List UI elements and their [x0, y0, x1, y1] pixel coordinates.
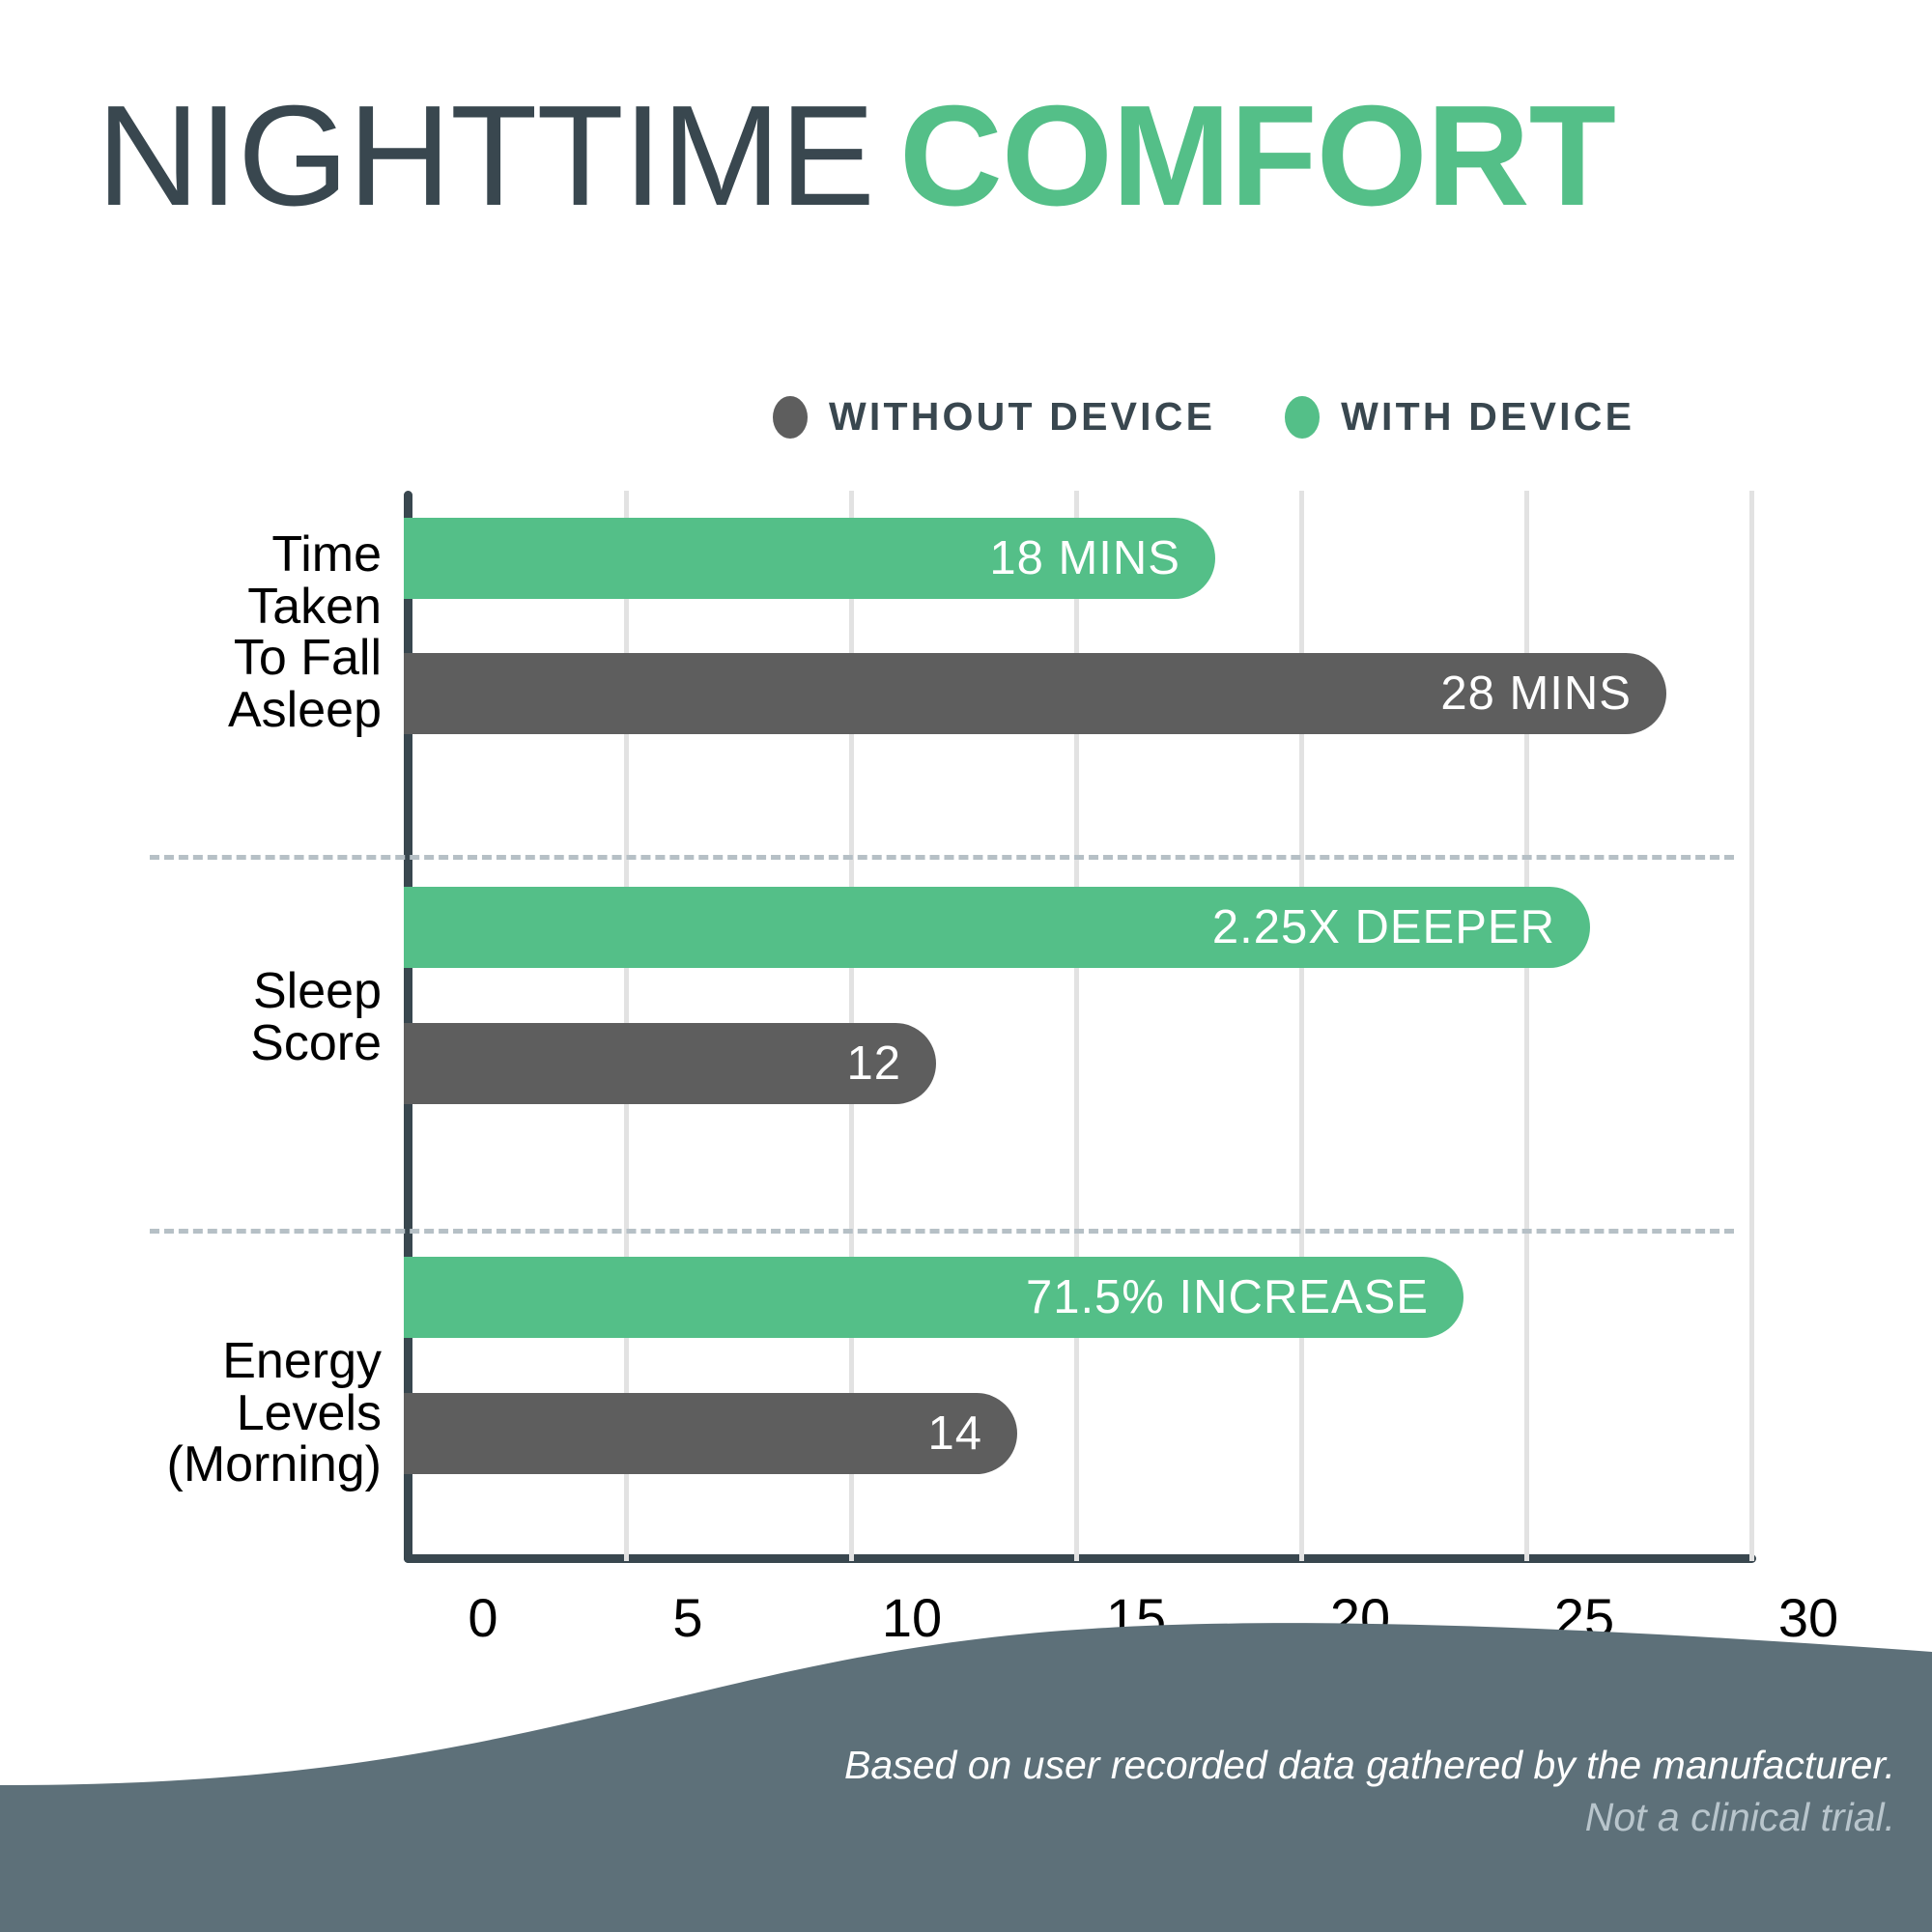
footer-disclaimer-line-1: Based on user recorded data gathered by … — [844, 1739, 1895, 1791]
bar-value-label: 18 MINS — [989, 531, 1180, 585]
bar-without-device-sleep-score: 12 — [404, 1023, 936, 1104]
bar-value-label: 28 MINS — [1440, 667, 1632, 721]
chart-legend: WITHOUT DEVICE WITH DEVICE — [773, 394, 1634, 440]
bar-without-device-time-to-fall-asleep: 28 MINS — [404, 653, 1666, 734]
footer-disclaimer: Based on user recorded data gathered by … — [844, 1739, 1895, 1843]
category-label-sleep-score: Sleep Score — [250, 966, 382, 1069]
gridline-20 — [1299, 491, 1304, 1561]
category-label-energy-levels: Energy Levels (Morning) — [167, 1336, 383, 1492]
bar-value-label: 14 — [927, 1406, 982, 1461]
gridline-25 — [1524, 491, 1529, 1561]
legend-item-with-device: WITH DEVICE — [1285, 394, 1634, 440]
legend-swatch-green-icon — [1285, 396, 1320, 439]
bar-value-label: 2.25X DEEPER — [1212, 900, 1555, 954]
legend-label-without-device: WITHOUT DEVICE — [829, 394, 1215, 440]
title-part-one: NIGHTTIME — [97, 76, 874, 236]
infographic-page: NIGHTTIMECOMFORT WITHOUT DEVICE WITH DEV… — [0, 0, 1932, 1932]
bar-with-device-energy-levels: 71.5% INCREASE — [404, 1257, 1463, 1338]
legend-swatch-gray-icon — [773, 396, 808, 439]
x-axis-line — [404, 1554, 1756, 1563]
bar-with-device-sleep-score: 2.25X DEEPER — [404, 887, 1590, 968]
bar-chart-plot-area: 18 MINS 28 MINS 2.25X DEEPER 12 71.5% IN… — [404, 491, 1756, 1563]
bar-value-label: 12 — [846, 1037, 901, 1091]
gridline-15 — [1074, 491, 1079, 1561]
bar-without-device-energy-levels: 14 — [404, 1393, 1017, 1474]
group-separator-2 — [150, 1229, 1734, 1234]
legend-item-without-device: WITHOUT DEVICE — [773, 394, 1215, 440]
page-title: NIGHTTIMECOMFORT — [97, 85, 1615, 228]
category-label-time-to-fall-asleep: Time Taken To Fall Asleep — [228, 529, 382, 736]
legend-label-with-device: WITH DEVICE — [1341, 394, 1634, 440]
footer-disclaimer-line-2: Not a clinical trial. — [844, 1791, 1895, 1843]
bar-with-device-time-to-fall-asleep: 18 MINS — [404, 518, 1215, 599]
group-separator-1 — [150, 855, 1734, 860]
gridline-30 — [1749, 491, 1754, 1561]
bar-value-label: 71.5% INCREASE — [1026, 1270, 1429, 1324]
title-part-two: COMFORT — [899, 76, 1615, 236]
